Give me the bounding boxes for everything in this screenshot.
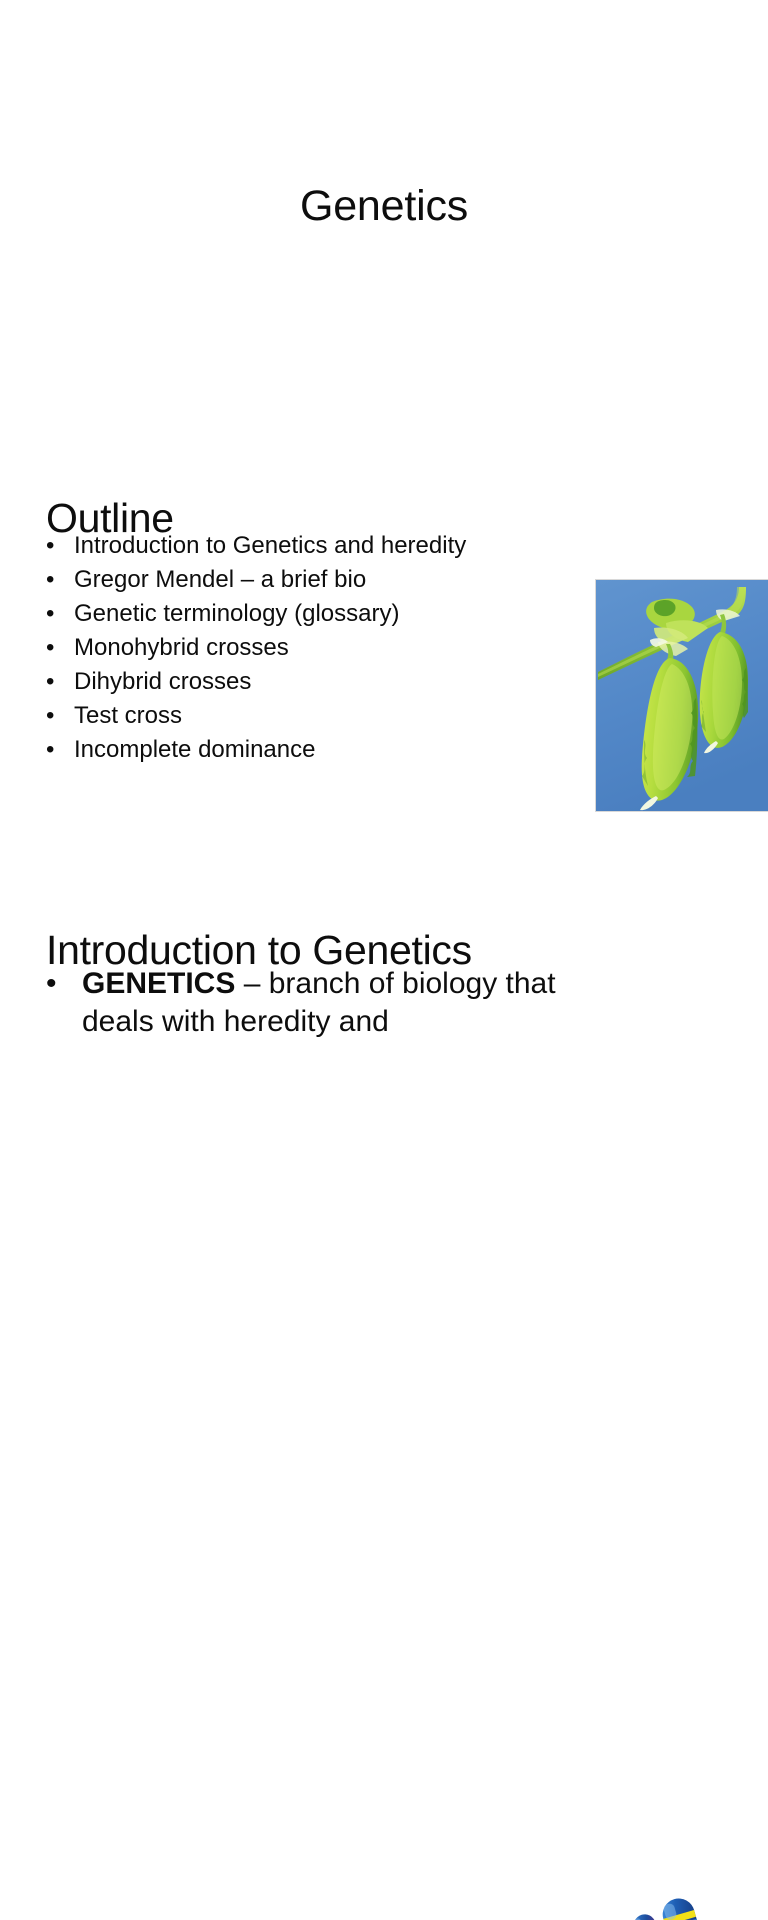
bullet-icon: • xyxy=(46,600,54,627)
slide-title: Genetics xyxy=(0,0,768,440)
list-item: • Test cross xyxy=(44,702,514,729)
page-title: Genetics xyxy=(0,184,768,229)
chromosomes-illustration xyxy=(616,1892,736,1920)
list-item-label: Genetic terminology (glossary) xyxy=(74,600,399,627)
list-item-label: Test cross xyxy=(74,702,182,729)
list-item-label: Monohybrid crosses xyxy=(74,634,289,661)
bullet-icon: • xyxy=(46,566,54,593)
bullet-icon: • xyxy=(46,668,54,695)
list-item: • Genetic terminology (glossary) xyxy=(44,600,514,627)
list-item: • Introduction to Genetics and heredity xyxy=(44,532,514,559)
outline-bullet-list: • Introduction to Genetics and heredity … xyxy=(44,532,514,770)
list-item-label: Dihybrid crosses xyxy=(74,668,251,695)
list-item-label: Introduction to Genetics and heredity xyxy=(74,532,466,559)
bullet-icon: • xyxy=(46,532,54,559)
bullet-icon: • xyxy=(46,634,54,661)
chromosome-small xyxy=(631,1911,662,1920)
chromosome-large xyxy=(659,1895,705,1920)
list-item: • Incomplete dominance xyxy=(44,736,514,763)
list-item: • GENETICS – branch of biology that deal… xyxy=(44,965,564,1041)
slide-introduction-to-genetics: Introduction to Genetics • GENETICS – br… xyxy=(0,880,768,1024)
pea-pods-photo xyxy=(596,580,768,811)
chromosomes-clipart xyxy=(616,1892,736,1920)
list-item: • Gregor Mendel – a brief bio xyxy=(44,566,514,593)
bullet-icon: • xyxy=(46,965,57,1003)
glossary-term: GENETICS xyxy=(82,967,235,1000)
list-item-label: Incomplete dominance xyxy=(74,736,315,763)
list-item-label: Gregor Mendel – a brief bio xyxy=(74,566,366,593)
intro-bullet-list: • GENETICS – branch of biology that deal… xyxy=(44,965,564,1041)
pea-pods-illustration xyxy=(596,580,768,811)
list-item: • Dihybrid crosses xyxy=(44,668,514,695)
slide-outline: Outline • Introduction to Genetics and h… xyxy=(0,440,768,880)
bullet-icon: • xyxy=(46,736,54,763)
bullet-icon: • xyxy=(46,702,54,729)
list-item: • Monohybrid crosses xyxy=(44,634,514,661)
